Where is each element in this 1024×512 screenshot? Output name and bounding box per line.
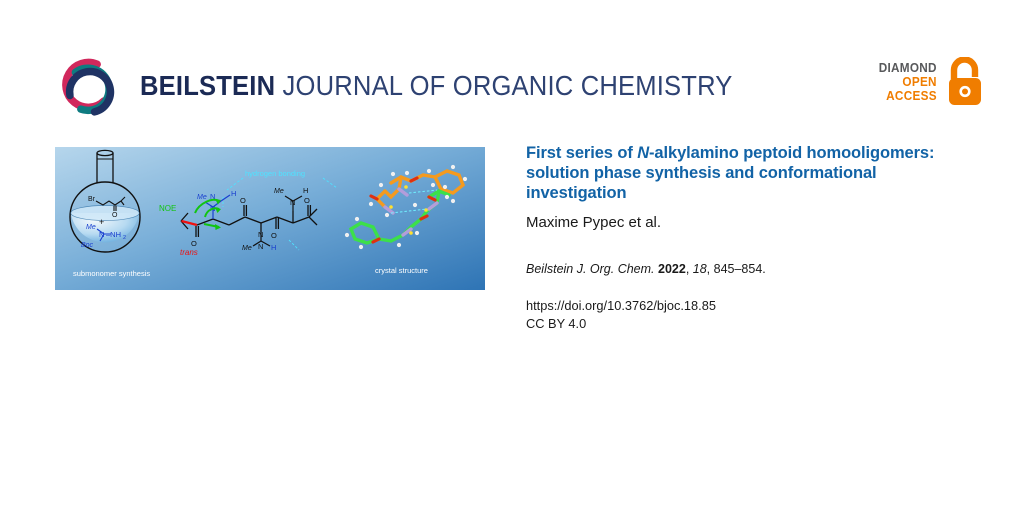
- annotation-noe: NOE: [159, 204, 176, 213]
- open-padlock-icon: [946, 57, 984, 107]
- article-license[interactable]: CC BY 4.0: [526, 315, 971, 334]
- svg-text:O: O: [240, 196, 246, 205]
- svg-text:Me: Me: [242, 245, 252, 252]
- graphical-abstract-image[interactable]: Br O + Me N –NH 2 Boc submonomer synthes…: [55, 147, 485, 290]
- badge-line-access: ACCESS: [879, 89, 937, 103]
- citation-volume: 18: [693, 262, 707, 276]
- svg-text:N: N: [99, 230, 104, 239]
- article-title[interactable]: First series of N-alkylamino peptoid hom…: [526, 144, 971, 203]
- journal-title-bold: BEILSTEIN: [140, 70, 275, 101]
- svg-text:H: H: [271, 243, 276, 252]
- annotation-trans: trans: [180, 248, 198, 257]
- svg-text:O: O: [112, 212, 118, 219]
- article-title-part1: First series of: [526, 144, 637, 162]
- svg-text:H: H: [303, 186, 308, 195]
- citation-pages: 845–854.: [714, 262, 766, 276]
- annotation-hydrogen-bonding: hydrogen bonding: [245, 169, 305, 178]
- badge-line-open: OPEN: [879, 75, 937, 89]
- journal-logo-block[interactable]: BEILSTEIN JOURNAL OF ORGANIC CHEMISTRY: [55, 52, 777, 120]
- article-title-italic-n: N: [637, 144, 649, 162]
- svg-text:O: O: [271, 231, 277, 240]
- svg-text:Br: Br: [88, 196, 96, 203]
- article-doi-link[interactable]: https://doi.org/10.3762/bjoc.18.85: [526, 297, 971, 316]
- svg-text:–NH: –NH: [106, 230, 121, 239]
- citation-journal: Beilstein J. Org. Chem.: [526, 262, 655, 276]
- svg-text:H: H: [231, 189, 236, 198]
- svg-text:Me: Me: [197, 194, 207, 201]
- abstract-caption-right: crystal structure: [375, 266, 428, 275]
- journal-title: BEILSTEIN JOURNAL OF ORGANIC CHEMISTRY: [140, 72, 733, 100]
- open-access-badge[interactable]: DIAMOND OPEN ACCESS: [875, 57, 984, 107]
- svg-text:O: O: [191, 239, 197, 248]
- page-header: BEILSTEIN JOURNAL OF ORGANIC CHEMISTRY D…: [0, 0, 1024, 130]
- article-doi-block: https://doi.org/10.3762/bjoc.18.85 CC BY…: [526, 297, 971, 334]
- svg-text:Me: Me: [86, 224, 96, 231]
- svg-text:Me: Me: [274, 188, 284, 195]
- journal-title-rest: JOURNAL OF ORGANIC CHEMISTRY: [275, 70, 732, 101]
- svg-text:2: 2: [123, 235, 126, 241]
- article-info: First series of N-alkylamino peptoid hom…: [526, 144, 971, 334]
- article-authors[interactable]: Maxime Pypec et al.: [526, 214, 971, 232]
- citation-year: 2022: [658, 262, 686, 276]
- svg-text:O: O: [304, 196, 310, 205]
- svg-text:N: N: [290, 198, 295, 207]
- abstract-caption-left: submonomer synthesis: [73, 269, 150, 278]
- beilstein-triple-arc-logo-icon: [55, 52, 123, 120]
- open-access-label: DIAMOND OPEN ACCESS: [879, 61, 937, 103]
- article-citation: Beilstein J. Org. Chem. 2022, 18, 845–85…: [526, 261, 971, 277]
- svg-text:+: +: [99, 217, 104, 227]
- svg-text:N: N: [258, 230, 263, 239]
- svg-text:N: N: [258, 242, 263, 251]
- svg-text:Boc: Boc: [81, 242, 94, 249]
- badge-line-diamond: DIAMOND: [879, 61, 937, 75]
